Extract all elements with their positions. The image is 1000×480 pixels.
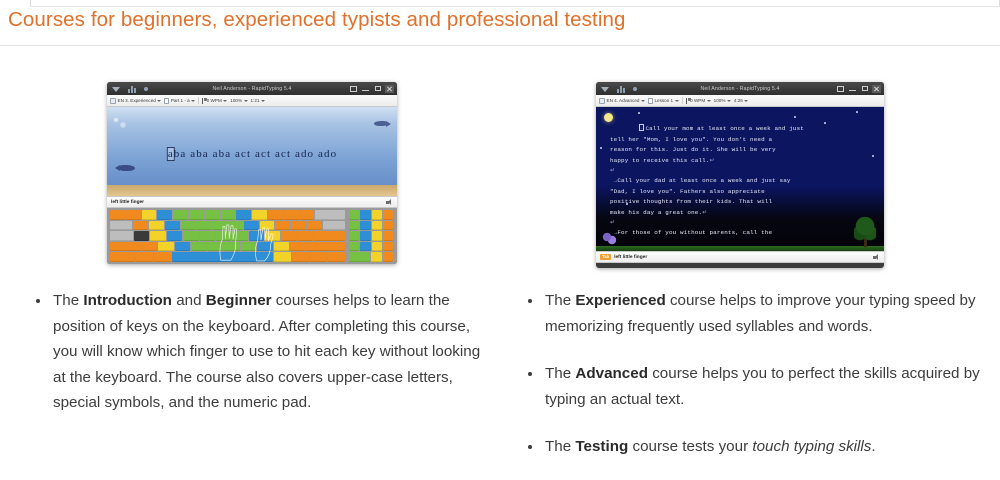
keyboard-row-space xyxy=(110,252,345,262)
coral-right-decoration xyxy=(336,184,394,196)
accuracy-value-2: 100% xyxy=(714,98,726,103)
window-titlebar-2: Neil Anderson - RapidTyping 5.4 xyxy=(596,82,884,95)
fish-icon-bottom xyxy=(119,165,135,171)
course-icon-2 xyxy=(599,98,605,104)
exercise-line-8: make his day a great one. xyxy=(610,209,702,216)
window-titlebar-1: Neil Anderson - RapidTyping 5.4 xyxy=(107,82,397,95)
lesson-selector-2[interactable]: Lesson 1 xyxy=(648,98,679,104)
chevron-down-icon-lesson-2 xyxy=(675,100,679,102)
tree-icon xyxy=(854,217,876,247)
speed-icon-1 xyxy=(202,98,205,104)
chevron-down-icon-speed-1 xyxy=(223,100,227,102)
hint-bar-2: Tab left little finger xyxy=(596,251,884,263)
minimize-button-1[interactable] xyxy=(361,85,370,93)
app-menu-icon-1[interactable] xyxy=(110,84,123,94)
keyboard-icon-2[interactable] xyxy=(631,84,644,94)
top-border-strip xyxy=(30,0,1000,7)
exercise-text-1: aba aba aba act act act ado ado xyxy=(167,147,337,161)
statistics-icon-2[interactable] xyxy=(615,84,628,94)
app-menu-icon-2[interactable] xyxy=(599,84,612,94)
page-title: Courses for beginners, experienced typis… xyxy=(8,8,908,32)
speaker-icon-1[interactable] xyxy=(386,199,393,206)
maximize-button-2[interactable] xyxy=(860,85,869,93)
chevron-down-icon-course-1 xyxy=(157,100,161,102)
typing-caret-2 xyxy=(639,124,644,131)
course-selector-2[interactable]: EN 4. Advanced xyxy=(599,98,645,104)
time-indicator-2[interactable]: 4:26 xyxy=(734,98,748,103)
chevron-down-icon-speed-2 xyxy=(707,100,711,102)
coral-left-decoration xyxy=(111,184,157,196)
bullet-text-intro-beginner: The Introduction and Beginner courses he… xyxy=(53,292,480,411)
window-controls-2 xyxy=(836,85,884,93)
chevron-down-icon-time-1 xyxy=(261,100,265,102)
hint-key-badge-2: Tab xyxy=(600,254,611,260)
typing-stage-aquarium: aba aba aba act act act ado ado xyxy=(107,107,397,196)
bullet-text-testing: The Testing course tests your touch typi… xyxy=(545,438,876,455)
window-toolbar-1: EN 3. Experienced Part 1 - a 0 WPM 100% … xyxy=(107,95,397,107)
time-value-2: 4:26 xyxy=(734,98,743,103)
title-divider xyxy=(0,45,1000,46)
lesson-label-1: Part 1 - a xyxy=(171,98,190,103)
bullet-text-experienced: The Experienced course helps to improve … xyxy=(545,292,976,335)
minimize-button-2[interactable] xyxy=(848,85,857,93)
exercise-line-10: For those of you without parents, call t… xyxy=(617,229,772,236)
speed-value-2: 0 WPM xyxy=(690,98,705,103)
speed-icon-2 xyxy=(686,98,689,104)
maximize-button-1[interactable] xyxy=(373,85,382,93)
speed-indicator-1[interactable]: 0 WPM xyxy=(202,98,227,104)
chevron-down-icon-lesson-1 xyxy=(191,100,195,102)
keyboard-icon-1[interactable] xyxy=(142,84,155,94)
exercise-line-0: Call your mom at least once a week and j… xyxy=(645,125,803,132)
toolbar-separator-1 xyxy=(198,97,199,104)
bubbles-decoration xyxy=(113,117,131,129)
screenshot-experienced-window: Neil Anderson - RapidTyping 5.4 EN 3. Ex… xyxy=(107,82,397,264)
keyboard-row-number xyxy=(110,210,345,220)
left-column: The Introduction and Beginner courses he… xyxy=(28,288,488,438)
page-root: Courses for beginners, experienced typis… xyxy=(0,0,1000,480)
left-bullet-list: The Introduction and Beginner courses he… xyxy=(28,288,488,416)
active-key-highlight xyxy=(134,231,149,241)
lesson-label-2: Lesson 1 xyxy=(654,98,673,103)
right-bullet-list: The Experienced course helps to improve … xyxy=(520,288,990,460)
hint-text-2: left little finger xyxy=(614,255,647,260)
right-column: The Experienced course helps to improve … xyxy=(520,288,990,480)
accuracy-indicator-2[interactable]: 100% xyxy=(714,98,731,103)
window-menu-button-2[interactable] xyxy=(836,85,845,93)
speed-value-1: 0 WPM xyxy=(207,98,222,103)
grass-decoration xyxy=(596,246,884,251)
hint-text-1: left little finger xyxy=(111,200,144,205)
screenshot-advanced-window: Neil Anderson - RapidTyping 5.4 EN 4. Ad… xyxy=(596,82,884,268)
course-selector-1[interactable]: EN 3. Experienced xyxy=(110,98,161,104)
window-toolbar-2: EN 4. Advanced Lesson 1 0 WPM 100% 4:26 xyxy=(596,95,884,107)
keyboard-row-qwerty xyxy=(110,221,345,231)
list-item: The Introduction and Beginner courses he… xyxy=(28,288,488,416)
close-button-1[interactable] xyxy=(385,85,394,93)
time-indicator-1[interactable]: 1:21 xyxy=(251,98,265,103)
window-menu-button-1[interactable] xyxy=(349,85,358,93)
list-item: The Advanced course helps you to perfect… xyxy=(520,361,990,412)
speaker-icon-2[interactable] xyxy=(873,254,880,261)
exercise-line-3: happy to receive this call. xyxy=(610,157,710,164)
course-icon-1 xyxy=(110,98,116,104)
virtual-keyboard-1[interactable] xyxy=(107,208,397,264)
chevron-down-icon-accuracy-2 xyxy=(727,100,731,102)
exercise-line-2: reason for this. Just do it. She will be… xyxy=(610,146,776,153)
keyboard-numpad-1 xyxy=(349,210,393,262)
window-controls-1 xyxy=(349,85,397,93)
exercise-text-2: Call your mom at least once a week and j… xyxy=(610,114,870,239)
toolbar-separator-2 xyxy=(682,97,683,104)
lesson-selector-1[interactable]: Part 1 - a xyxy=(164,98,195,104)
flower-icon xyxy=(602,232,616,246)
exercise-line-1: tell her "Mom, I love you". You don't ne… xyxy=(610,136,772,143)
keyboard-row-home xyxy=(110,231,345,241)
course-label-1: EN 3. Experienced xyxy=(118,98,156,103)
exercise-text-rest-1: ba aba aba act act act ado ado xyxy=(174,148,337,160)
time-value-1: 1:21 xyxy=(251,98,260,103)
exercise-line-6: "Dad, I love you". Fathers also apprecia… xyxy=(610,188,765,195)
statistics-icon-1[interactable] xyxy=(126,84,139,94)
course-label-2: EN 4. Advanced xyxy=(607,98,640,103)
accuracy-indicator-1[interactable]: 100% xyxy=(230,98,247,103)
lesson-icon-2 xyxy=(648,98,653,104)
close-button-2[interactable] xyxy=(872,85,881,93)
hint-bar-1: left little finger xyxy=(107,196,397,208)
chevron-down-icon-course-2 xyxy=(641,100,645,102)
exercise-line-5: Call your dad at least once a week and j… xyxy=(617,177,790,184)
chevron-down-icon-time-2 xyxy=(744,100,748,102)
keyboard-row-zxcv xyxy=(110,242,345,252)
list-item: The Experienced course helps to improve … xyxy=(520,288,990,339)
exercise-line-7: positive thoughts from their kids. That … xyxy=(610,198,772,205)
speed-indicator-2[interactable]: 0 WPM xyxy=(686,98,711,104)
fish-icon-top xyxy=(374,121,387,126)
typing-stage-night: Call your mom at least once a week and j… xyxy=(596,107,884,251)
bullet-text-advanced: The Advanced course helps you to perfect… xyxy=(545,365,980,408)
keyboard-main-block-1 xyxy=(110,210,345,262)
chevron-down-icon-accuracy-1 xyxy=(244,100,248,102)
lesson-icon-1 xyxy=(164,98,169,104)
accuracy-value-1: 100% xyxy=(230,98,242,103)
list-item: The Testing course tests your touch typi… xyxy=(520,434,990,460)
